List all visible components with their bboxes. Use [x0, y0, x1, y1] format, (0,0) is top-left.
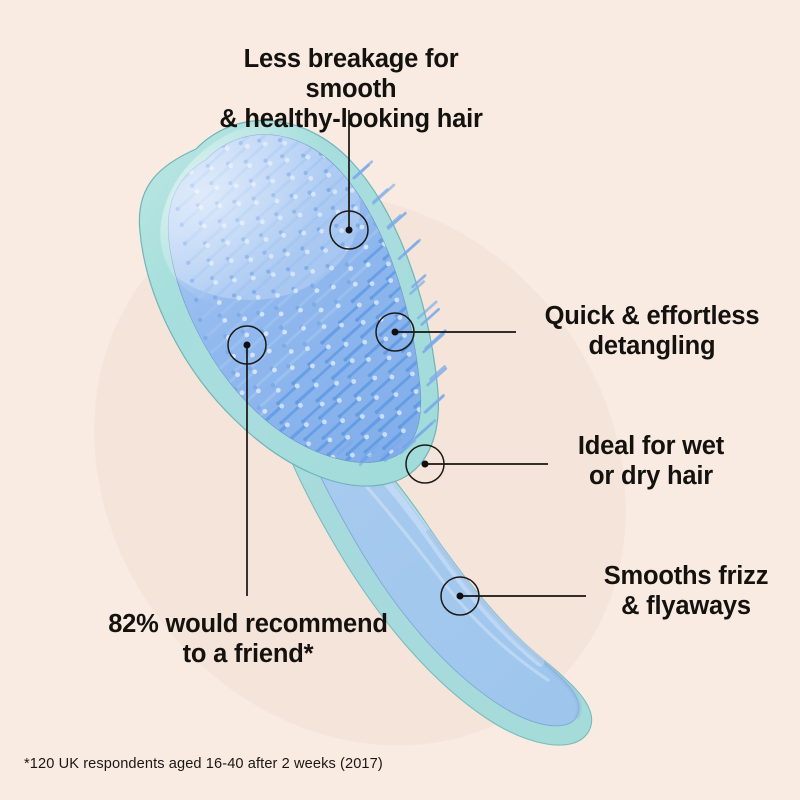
callout-label-recommend-stat: 82% would recommend to a friend*	[108, 609, 388, 669]
callout-label-smooths-frizz: Smooths frizz & flyaways	[583, 561, 789, 621]
callout-label-quick-detangling: Quick & effortless detangling	[524, 301, 780, 361]
callout-label-wet-or-dry: Ideal for wet or dry hair	[545, 431, 757, 491]
infographic-canvas: Less breakage for smooth & healthy-looki…	[0, 0, 800, 800]
footnote-text: *120 UK respondents aged 16-40 after 2 w…	[24, 756, 383, 772]
callout-label-less-breakage: Less breakage for smooth & healthy-looki…	[198, 44, 504, 134]
